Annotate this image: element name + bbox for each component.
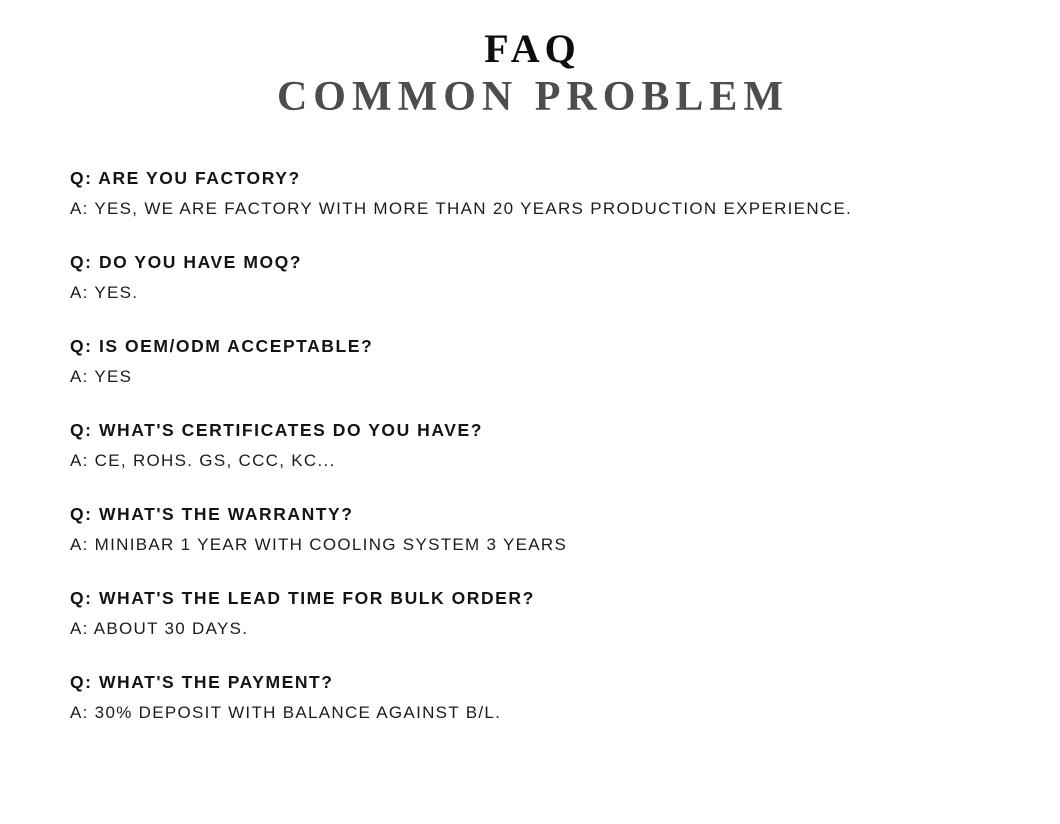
faq-answer: A: YES, WE ARE FACTORY WITH MORE THAN 20… bbox=[70, 197, 1020, 221]
faq-question: Q: WHAT'S THE PAYMENT? bbox=[70, 670, 1020, 694]
faq-question: Q: DO YOU HAVE MOQ? bbox=[70, 250, 1020, 274]
faq-answer: A: ABOUT 30 DAYS. bbox=[70, 617, 1020, 641]
faq-question: Q: IS OEM/ODM ACCEPTABLE? bbox=[70, 334, 1020, 358]
faq-answer: A: YES. bbox=[70, 281, 1020, 305]
page-title: FAQ bbox=[0, 26, 1060, 72]
faq-item: Q: DO YOU HAVE MOQ? A: YES. bbox=[70, 250, 1020, 305]
faq-question: Q: WHAT'S THE LEAD TIME FOR BULK ORDER? bbox=[70, 586, 1020, 610]
faq-item: Q: WHAT'S THE WARRANTY? A: MINIBAR 1 YEA… bbox=[70, 502, 1020, 557]
faq-item: Q: ARE YOU FACTORY? A: YES, WE ARE FACTO… bbox=[70, 166, 1020, 221]
faq-item: Q: IS OEM/ODM ACCEPTABLE? A: YES bbox=[70, 334, 1020, 389]
page-subtitle: COMMON PROBLEM bbox=[0, 72, 1060, 122]
faq-page: FAQ COMMON PROBLEM Q: ARE YOU FACTORY? A… bbox=[0, 0, 1060, 824]
faq-item: Q: WHAT'S THE PAYMENT? A: 30% DEPOSIT WI… bbox=[70, 670, 1020, 725]
faq-answer: A: CE, ROHS. GS, CCC, KC... bbox=[70, 449, 1020, 473]
faq-question: Q: WHAT'S CERTIFICATES DO YOU HAVE? bbox=[70, 418, 1020, 442]
faq-question: Q: WHAT'S THE WARRANTY? bbox=[70, 502, 1020, 526]
faq-question: Q: ARE YOU FACTORY? bbox=[70, 166, 1020, 190]
faq-item: Q: WHAT'S CERTIFICATES DO YOU HAVE? A: C… bbox=[70, 418, 1020, 473]
page-header: FAQ COMMON PROBLEM bbox=[0, 0, 1060, 122]
faq-list: Q: ARE YOU FACTORY? A: YES, WE ARE FACTO… bbox=[70, 166, 1020, 725]
faq-answer: A: YES bbox=[70, 365, 1020, 389]
faq-answer: A: 30% DEPOSIT WITH BALANCE AGAINST B/L. bbox=[70, 701, 1020, 725]
faq-item: Q: WHAT'S THE LEAD TIME FOR BULK ORDER? … bbox=[70, 586, 1020, 641]
faq-answer: A: MINIBAR 1 YEAR WITH COOLING SYSTEM 3 … bbox=[70, 533, 1020, 557]
